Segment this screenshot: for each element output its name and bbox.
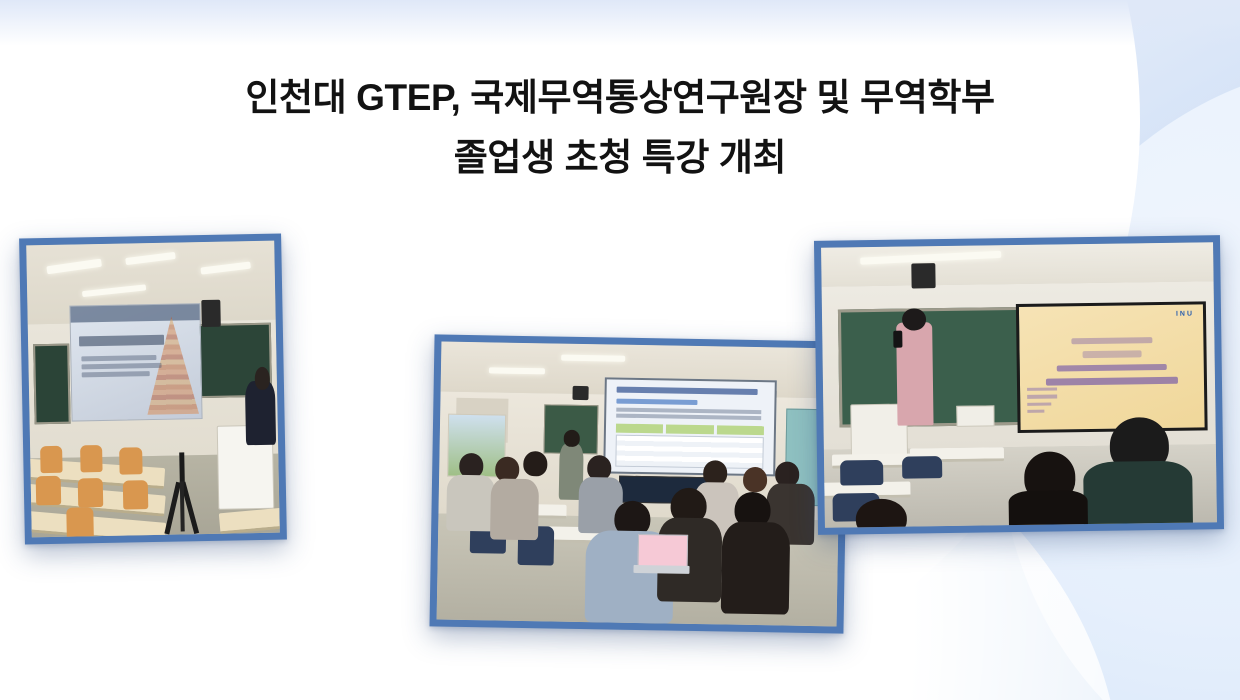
chair (119, 448, 142, 475)
presenter-head (564, 430, 580, 447)
slide-bullet (1028, 410, 1045, 413)
student-body (446, 475, 495, 531)
student-body (721, 522, 791, 615)
slide-table-cell (717, 426, 764, 435)
slide-title-text (617, 386, 758, 395)
slide-body-text (616, 414, 761, 420)
photo-left[interactable] (19, 234, 287, 545)
presenter-body (245, 381, 276, 446)
photo-middle-scene (437, 342, 842, 627)
slide-bullet (1028, 402, 1052, 405)
slide-header-bar (71, 304, 200, 322)
chair (902, 456, 941, 479)
projection-screen (603, 378, 777, 477)
slide-title-text (79, 335, 164, 347)
slide-body-text (82, 371, 149, 377)
audience-body (1083, 461, 1194, 528)
laptop-screen (638, 534, 689, 567)
page-title: 인천대 GTEP, 국제무역통상연구원장 및 무역학부 졸업생 초청 특강 개최 (0, 68, 1240, 188)
chair (840, 460, 883, 486)
chair (40, 446, 63, 473)
speaker-head (902, 308, 926, 331)
chair (78, 478, 103, 508)
ceiling (821, 242, 1214, 287)
headline-line-1: 인천대 GTEP, 국제무역통상연구원장 및 무역학부 (0, 68, 1240, 128)
student-head (523, 451, 547, 476)
ceiling-light (489, 367, 545, 374)
slide-body-text (82, 363, 162, 369)
photo-right-scene: INU (821, 242, 1217, 527)
student-head (743, 466, 767, 491)
chair (80, 445, 103, 472)
photo-right[interactable]: INU (814, 235, 1224, 535)
left-blackboard (33, 344, 71, 425)
slide-table-cell (666, 425, 713, 434)
equipment-box (957, 405, 995, 427)
slide-bullet (1027, 388, 1057, 391)
audience-body (1009, 490, 1088, 527)
slide-body-text (616, 407, 761, 413)
chair (36, 475, 61, 505)
slide-body-text (82, 355, 157, 361)
slide-table (615, 435, 763, 469)
inu-logo: INU (1176, 311, 1194, 318)
presenter-head (254, 366, 269, 390)
photo-middle[interactable] (429, 334, 848, 633)
slide-line (1046, 377, 1179, 385)
wall-speaker (201, 300, 221, 327)
slide-table-cell (616, 424, 663, 433)
microphone (893, 331, 903, 348)
photo-left-scene (26, 241, 280, 538)
presentation-display: INU (1016, 301, 1208, 433)
headline-line-2: 졸업생 초청 특강 개최 (0, 128, 1240, 188)
chair (122, 480, 147, 510)
slide-line (1057, 364, 1168, 372)
banner-stage: 인천대 GTEP, 국제무역통상연구원장 및 무역학부 졸업생 초청 특강 개최 (0, 0, 1240, 700)
laptop-base (633, 565, 689, 574)
slide-subtitle (616, 398, 697, 405)
student-body (490, 479, 539, 541)
slide-bullet (1027, 395, 1057, 398)
background-top-fade (0, 0, 1240, 46)
slide-line (1082, 351, 1141, 358)
chair (66, 507, 94, 537)
wall-speaker (572, 386, 588, 400)
slide-line (1071, 337, 1152, 344)
wall-speaker (911, 263, 935, 289)
projection-screen (70, 303, 203, 421)
